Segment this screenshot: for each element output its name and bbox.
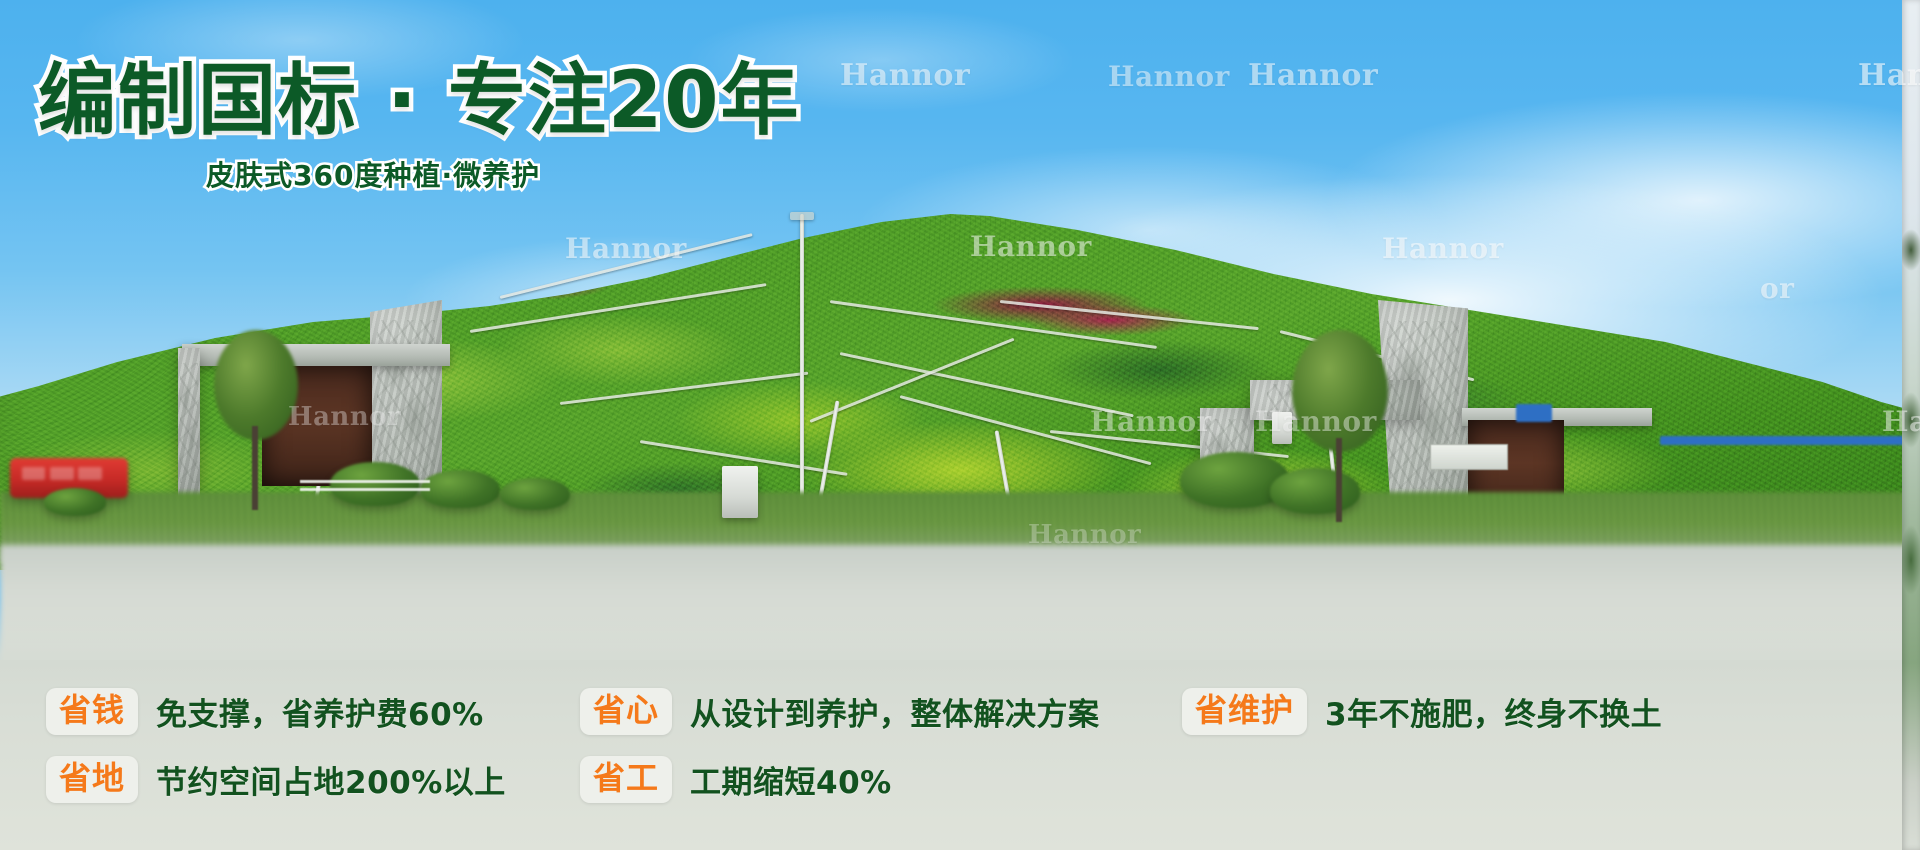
feature-column-2-row-1: 省心 从设计到养护，整体解决方案 <box>580 688 1100 735</box>
feature-column-1-row-2: 省地 节约空间占地200%以上 <box>46 756 506 803</box>
utility-cabinet <box>722 466 758 518</box>
feature-badge: 省维护 <box>1182 688 1307 735</box>
feature-badge: 省心 <box>580 688 672 735</box>
foreground-shrub <box>420 470 500 508</box>
feature-item: 省工 工期缩短40% <box>580 756 892 803</box>
tree-canopy <box>214 330 298 440</box>
feature-text: 工期缩短40% <box>690 757 892 802</box>
feature-item: 省心 从设计到养护，整体解决方案 <box>580 688 1100 735</box>
blue-overpass-beam <box>1660 436 1910 445</box>
feature-item: 省地 节约空间占地200%以上 <box>46 756 506 803</box>
blue-signage <box>1516 404 1552 422</box>
feature-text: 从设计到养护，整体解决方案 <box>690 689 1100 734</box>
roof-ridge <box>790 212 814 220</box>
promo-banner: HannorHannorHannorHanHannorHannorHannoro… <box>0 0 1920 850</box>
support-post <box>800 214 804 514</box>
bus-window <box>22 467 46 481</box>
tree-trunk <box>1336 438 1342 522</box>
railing <box>300 488 430 491</box>
feature-column-3-row-1: 省维护 3年不施肥，终身不换土 <box>1182 688 1662 735</box>
bus-window <box>78 467 102 481</box>
feature-badge: 省钱 <box>46 688 138 735</box>
foreground-tree <box>1292 330 1388 520</box>
utility-cabinet <box>1272 412 1292 444</box>
tree-canopy <box>1292 330 1388 452</box>
feature-text: 免支撑，省养护费60% <box>156 689 484 734</box>
foreground-shrub <box>330 462 420 506</box>
feature-badge: 省工 <box>580 756 672 803</box>
foreground-shrub <box>500 478 570 510</box>
tree-trunk <box>252 426 258 510</box>
foreground-tree <box>214 330 298 510</box>
bus-window <box>50 467 74 481</box>
feature-badge: 省地 <box>46 756 138 803</box>
feature-item: 省维护 3年不施肥，终身不换土 <box>1182 688 1662 735</box>
feature-text: 节约空间占地200%以上 <box>156 757 506 802</box>
hero-text-block: 编制国标 · 专注20年 皮肤式360度种植·微养护 <box>38 62 801 194</box>
foreground-shrub <box>44 488 106 516</box>
feature-column-1-row-1: 省钱 免支撑，省养护费60% <box>46 688 484 735</box>
feature-text: 3年不施肥，终身不换土 <box>1325 689 1662 734</box>
feature-item: 省钱 免支撑，省养护费60% <box>46 688 484 735</box>
page-subtitle: 皮肤式360度种植·微养护 <box>206 154 801 194</box>
roadside-sign <box>1430 444 1508 470</box>
feature-list: 省钱 免支撑，省养护费60% 省地 节约空间占地200%以上 省心 从设计到养护… <box>0 688 1920 838</box>
railing <box>300 480 430 483</box>
concrete-relief-panel <box>178 348 200 498</box>
page-title: 编制国标 · 专注20年 <box>38 62 801 142</box>
feature-column-2-row-2: 省工 工期缩短40% <box>580 756 892 803</box>
